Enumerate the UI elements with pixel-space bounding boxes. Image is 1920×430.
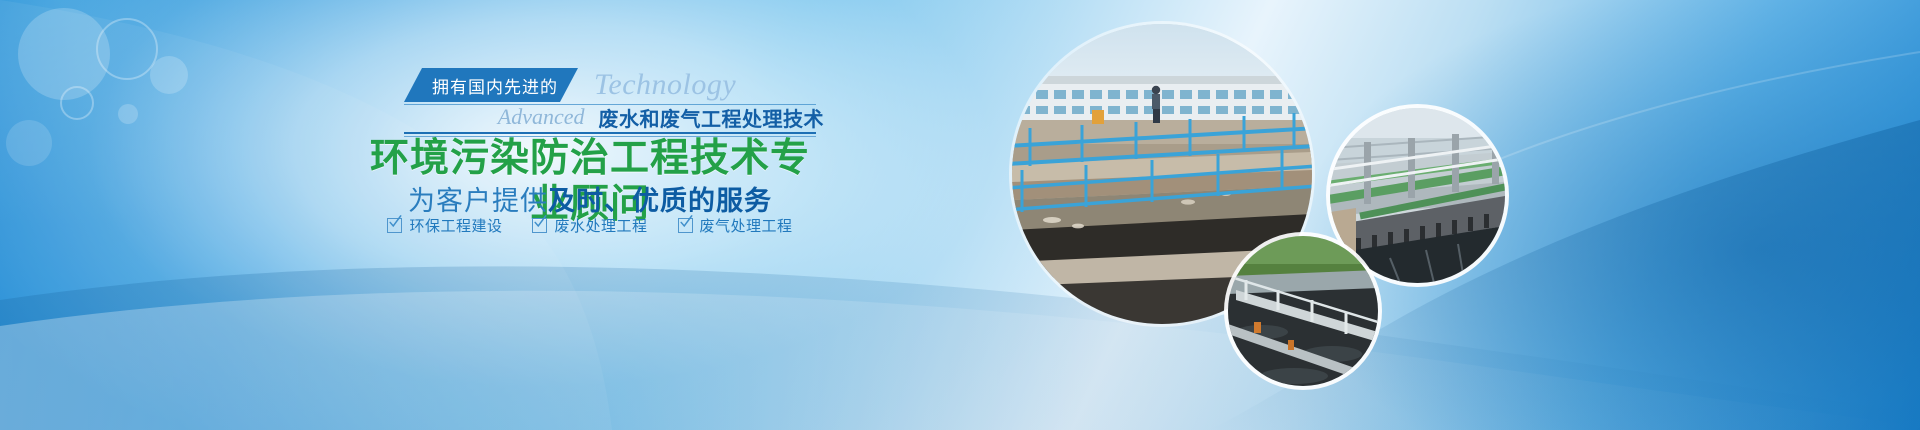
treatment-pond-walkway-photo	[1228, 236, 1378, 386]
photo-collage	[0, 0, 1920, 430]
sedimentation-tank-pipes-photo	[1330, 108, 1505, 283]
promo-banner: 拥有国内先进的 Technology Advanced 废水和废气工程处理技术 …	[0, 0, 1920, 430]
